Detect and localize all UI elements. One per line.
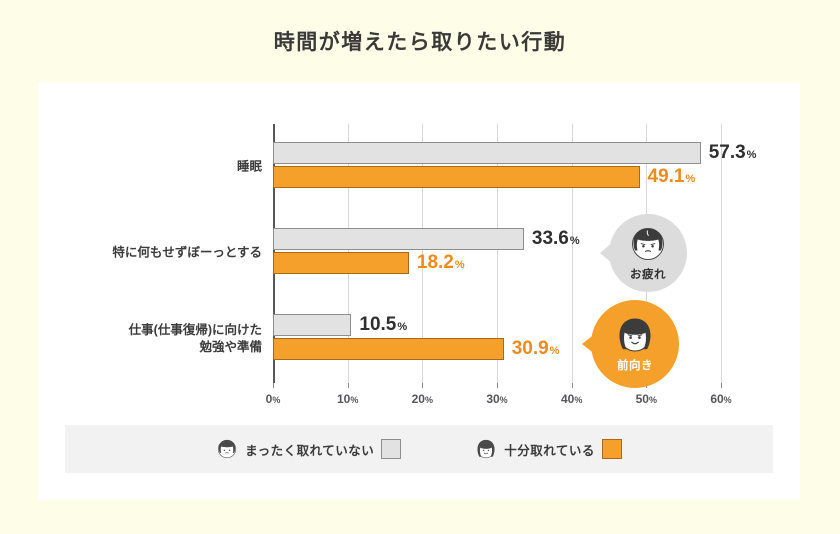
bar-group-idle-orange: 18.2% bbox=[273, 252, 465, 274]
positive-face-icon bbox=[615, 315, 655, 355]
annotation-label-positive: 前向き bbox=[617, 357, 653, 373]
x-tick-value-10: 10 bbox=[337, 392, 350, 406]
x-tick-value-30: 30 bbox=[486, 392, 499, 406]
category-label-study: 仕事(仕事復帰)に向けた 勉強や準備 bbox=[129, 322, 262, 356]
bar-study-orange[interactable] bbox=[273, 338, 504, 360]
legend-swatch-gray[interactable] bbox=[381, 439, 401, 459]
x-tick-unit-30: % bbox=[500, 395, 508, 405]
tick-mark-30 bbox=[497, 383, 498, 388]
x-tick-unit-10: % bbox=[350, 395, 358, 405]
annotation-bubble-tired: お疲れ bbox=[609, 214, 687, 292]
legend-label-not-enough-sleep: まったく取れていない bbox=[245, 440, 374, 459]
x-tick-label-40: 40% bbox=[561, 392, 582, 406]
category-label-sleep-line-1: 睡眠 bbox=[237, 159, 262, 176]
plot-area: 0% 10% 20% 30% 40% 50% 60% 睡眠 5 bbox=[273, 124, 721, 383]
x-tick-label-60: 60% bbox=[710, 392, 731, 406]
x-tick-label-50: 50% bbox=[636, 392, 657, 406]
bar-sleep-gray[interactable] bbox=[273, 142, 701, 164]
bar-value-unit-sleep-gray: % bbox=[747, 149, 757, 161]
bar-value-number-study-orange: 30.9 bbox=[512, 338, 549, 359]
bar-value-unit-idle-gray: % bbox=[570, 235, 580, 247]
category-row-sleep: 睡眠 57.3% 49.1% bbox=[273, 124, 721, 210]
bar-value-sleep-gray: 57.3% bbox=[709, 142, 757, 164]
bar-group-sleep-orange: 49.1% bbox=[273, 166, 695, 188]
annotation-label-tired: お疲れ bbox=[630, 266, 666, 282]
tick-mark-10 bbox=[348, 383, 349, 388]
bar-group-sleep-gray: 57.3% bbox=[273, 142, 756, 164]
category-label-idle: 特に何もせずぼーっとする bbox=[112, 245, 262, 262]
bar-value-number-idle-orange: 18.2 bbox=[417, 252, 454, 273]
tick-mark-40 bbox=[572, 383, 573, 388]
chart-legend: まったく取れていない 十分取れている bbox=[65, 425, 773, 473]
category-label-study-line-1: 仕事(仕事復帰)に向けた bbox=[129, 322, 262, 339]
legend-tired-face-icon bbox=[216, 438, 238, 460]
bar-group-study-orange: 30.9% bbox=[273, 338, 559, 360]
bar-group-idle-gray: 33.6% bbox=[273, 228, 580, 250]
tired-face-icon bbox=[628, 224, 668, 264]
x-tick-label-20: 20% bbox=[412, 392, 433, 406]
category-label-idle-line-1: 特に何もせずぼーっとする bbox=[112, 245, 262, 262]
tick-mark-0 bbox=[273, 383, 274, 388]
x-tick-unit-0: % bbox=[272, 395, 280, 405]
bar-sleep-orange[interactable] bbox=[273, 166, 640, 188]
bubble-tail-tired bbox=[600, 242, 613, 264]
bar-idle-gray[interactable] bbox=[273, 228, 524, 250]
bar-value-study-orange: 30.9% bbox=[512, 338, 560, 360]
bar-value-unit-sleep-orange: % bbox=[685, 173, 695, 185]
category-label-study-line-2: 勉強や準備 bbox=[129, 339, 262, 356]
x-tick-unit-40: % bbox=[574, 395, 582, 405]
bar-value-number-study-gray: 10.5 bbox=[359, 314, 396, 335]
x-tick-label-10: 10% bbox=[337, 392, 358, 406]
bar-value-number-sleep-gray: 57.3 bbox=[709, 142, 746, 163]
x-tick-value-60: 60 bbox=[710, 392, 723, 406]
x-tick-unit-60: % bbox=[724, 395, 732, 405]
bar-idle-orange[interactable] bbox=[273, 252, 409, 274]
bar-value-unit-study-orange: % bbox=[550, 345, 560, 357]
bar-value-unit-idle-orange: % bbox=[455, 259, 465, 271]
bar-value-idle-gray: 33.6% bbox=[532, 228, 580, 250]
legend-swatch-orange[interactable] bbox=[602, 439, 622, 459]
bar-value-number-sleep-orange: 49.1 bbox=[648, 166, 685, 187]
x-tick-label-30: 30% bbox=[486, 392, 507, 406]
chart-card: 0% 10% 20% 30% 40% 50% 60% 睡眠 5 bbox=[38, 82, 800, 500]
annotation-bubble-positive: 前向き bbox=[591, 300, 679, 388]
x-tick-value-50: 50 bbox=[636, 392, 649, 406]
x-tick-unit-50: % bbox=[649, 395, 657, 405]
bar-study-gray[interactable] bbox=[273, 314, 351, 336]
legend-item-enough-sleep[interactable]: 十分取れている bbox=[475, 438, 622, 460]
legend-label-enough-sleep: 十分取れている bbox=[504, 440, 595, 459]
x-tick-value-20: 20 bbox=[412, 392, 425, 406]
bar-value-idle-orange: 18.2% bbox=[417, 252, 465, 274]
bar-value-number-idle-gray: 33.6 bbox=[532, 228, 569, 249]
x-tick-value-0: 0 bbox=[266, 392, 273, 406]
bar-value-study-gray: 10.5% bbox=[359, 314, 407, 336]
page-title: 時間が増えたら取りたい行動 bbox=[0, 26, 840, 56]
x-tick-unit-20: % bbox=[425, 395, 433, 405]
category-label-sleep: 睡眠 bbox=[237, 159, 262, 176]
x-tick-label-0: 0% bbox=[266, 392, 281, 406]
bar-group-study-gray: 10.5% bbox=[273, 314, 407, 336]
bubble-tail-positive bbox=[582, 333, 596, 355]
tick-mark-60 bbox=[721, 383, 722, 388]
x-tick-value-40: 40 bbox=[561, 392, 574, 406]
tick-mark-20 bbox=[422, 383, 423, 388]
bar-value-sleep-orange: 49.1% bbox=[648, 166, 696, 188]
legend-item-not-enough-sleep[interactable]: まったく取れていない bbox=[216, 438, 401, 460]
legend-positive-face-icon bbox=[475, 438, 497, 460]
bar-value-unit-study-gray: % bbox=[397, 321, 407, 333]
